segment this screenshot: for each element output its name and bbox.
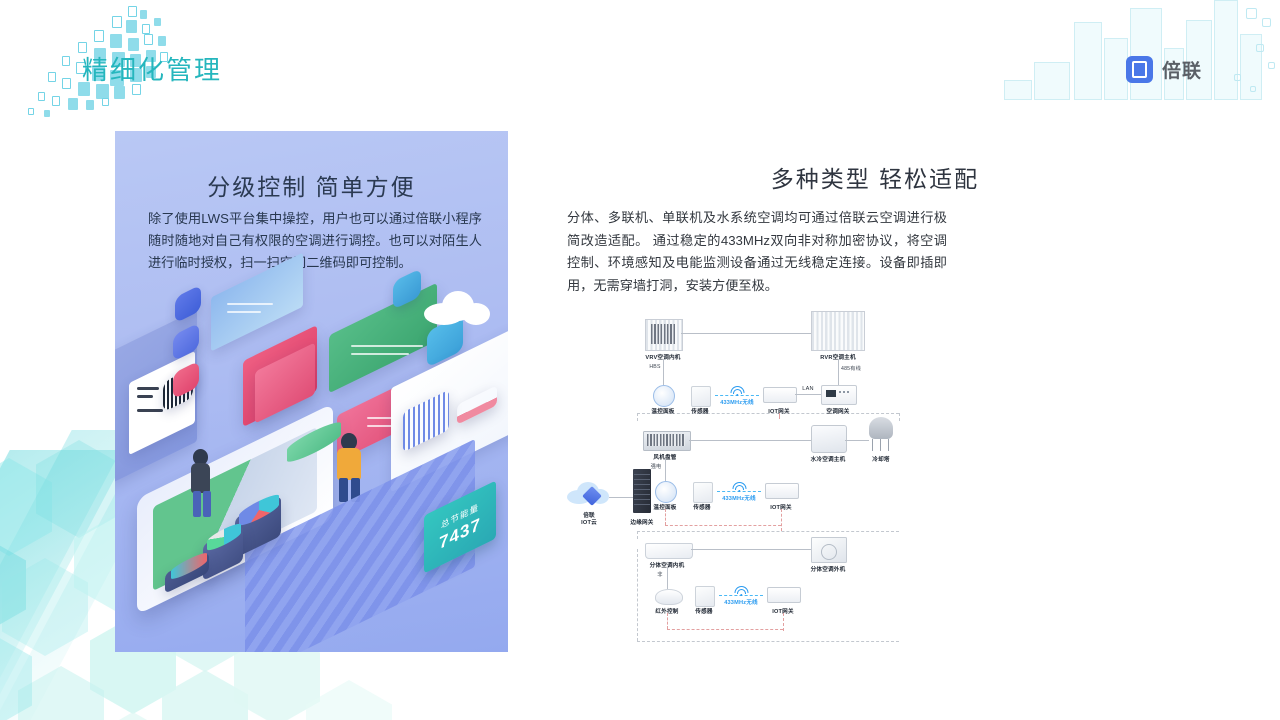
- left-feature-card: 分级控制 简单方便 除了使用LWS平台集中操控，用户也可以通过倍联小程序随时随地…: [115, 131, 508, 652]
- split-bus-label: 非: [657, 571, 662, 578]
- vrv-iot-gateway-device: [763, 387, 797, 403]
- vrv-thermostat-panel-device: [653, 385, 675, 407]
- wifi-icon: [731, 386, 744, 396]
- split-wireless-link: [719, 595, 763, 596]
- vrv-ac-gateway-label: 空调网关: [826, 407, 849, 415]
- split-sensor-label: 传感器: [695, 607, 712, 615]
- page-header: 精细化管理 倍联: [0, 0, 1280, 118]
- isometric-illustration: 总节能量 7437: [115, 281, 508, 652]
- water-wireless-label: 433MHz无线: [722, 494, 756, 502]
- right-feature-section: 多种类型 轻松适配 分体、多联机、单联机及水系统空调均可通过倍联云空调进行极简改…: [545, 131, 1205, 652]
- vrv-wired-label: 485有线: [841, 365, 861, 372]
- brand-logo: 倍联: [1126, 56, 1202, 83]
- brand-name: 倍联: [1162, 56, 1202, 83]
- split-sensor-device: [695, 586, 715, 607]
- cooling-tower-label: 冷却塔: [872, 455, 889, 463]
- vrv-ac-gateway-device: [821, 385, 857, 405]
- vrv-lan-label: LAN: [802, 386, 813, 392]
- water-wireless-link: [717, 491, 761, 492]
- split-outdoor-unit-device: [811, 537, 847, 563]
- hvac-topology-diagram: 倍联 IOT云 边缘网关 VRV空调内机 RVR空调主机 HBS 485有线 温…: [555, 303, 955, 643]
- split-iot-gateway-device: [767, 587, 801, 603]
- page-title: 精细化管理: [82, 50, 222, 87]
- split-wireless-label: 433MHz无线: [724, 598, 758, 606]
- vrv-outdoor-unit-device: [811, 311, 865, 351]
- fcu-bus-label: 强电: [651, 463, 662, 470]
- split-indoor-unit-device: [645, 543, 693, 559]
- vrv-panel-label: 温控面板: [651, 407, 674, 415]
- left-card-body: 除了使用LWS平台集中操控，用户也可以通过倍联小程序随时随地对自己有权限的空调进…: [148, 208, 482, 274]
- infrared-controller-device: [655, 589, 683, 605]
- water-sensor-label: 传感器: [693, 503, 710, 511]
- vrv-wireless-label: 433MHz无线: [720, 398, 754, 406]
- wifi-icon: [733, 482, 746, 492]
- rounded-square-logo-icon: [1126, 56, 1153, 83]
- right-section-body: 分体、多联机、单联机及水系统空调均可通过倍联云空调进行极简改造适配。 通过稳定的…: [567, 207, 947, 297]
- right-section-title: 多种类型 轻松适配: [545, 160, 1205, 194]
- left-card-title: 分级控制 简单方便: [115, 168, 508, 202]
- vrv-wireless-link: [715, 395, 759, 396]
- water-chiller-label: 水冷空调主机: [811, 455, 846, 463]
- split-outdoor-label: 分体空调外机: [811, 565, 846, 573]
- water-cooled-chiller-device: [811, 425, 847, 453]
- wifi-icon: [735, 586, 748, 596]
- water-iot-gateway-device: [765, 483, 799, 499]
- edge-gateway-device: [633, 469, 651, 513]
- cloud-icon: [420, 287, 494, 331]
- vrv-sensor-label: 传感器: [691, 407, 708, 415]
- cooling-tower-device: [867, 417, 895, 453]
- vrv-sensor-device: [691, 386, 711, 407]
- water-thermostat-panel-device: [655, 481, 677, 503]
- vrv-bus-label: HBS: [649, 364, 660, 370]
- water-sensor-device: [693, 482, 713, 503]
- cloud-label-line2: IOT云: [581, 518, 597, 526]
- edge-gateway-label: 边缘网关: [630, 518, 653, 526]
